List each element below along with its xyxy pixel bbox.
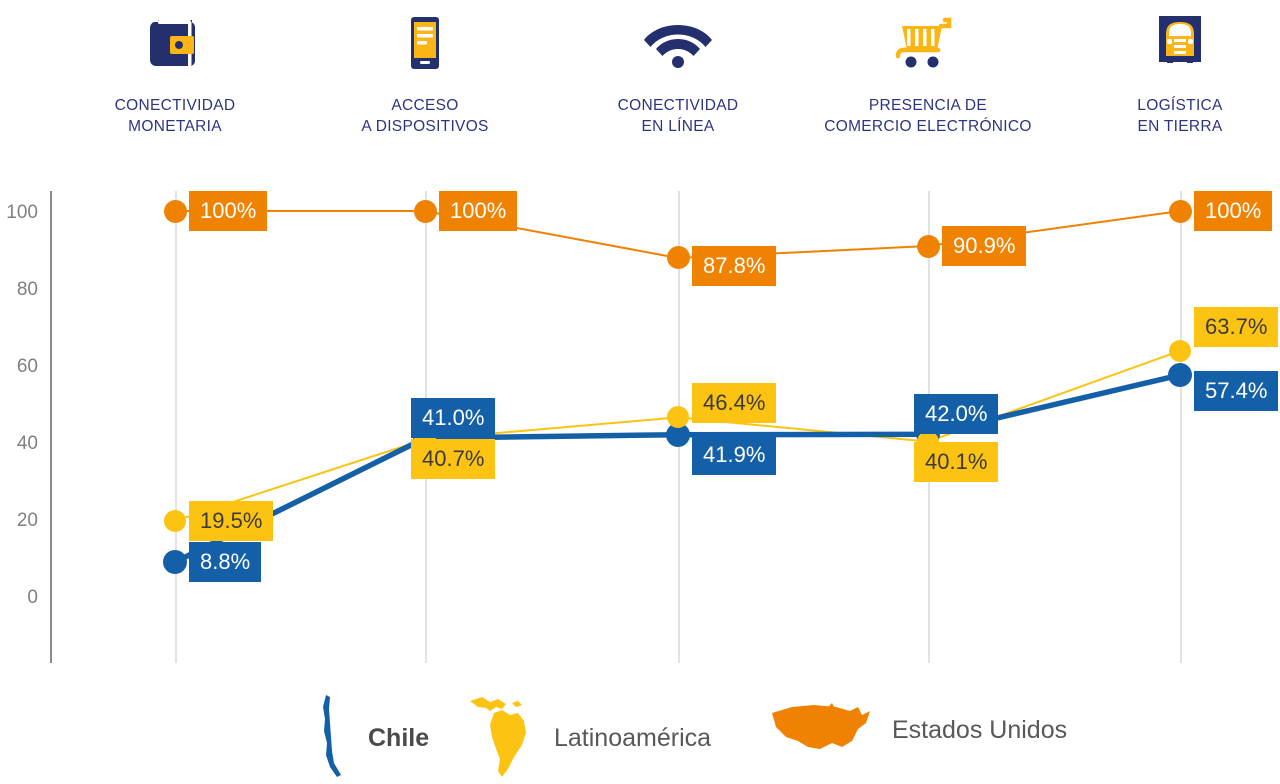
legend-label: Chile — [368, 724, 429, 753]
data-point-marker — [917, 235, 940, 258]
data-point-marker — [164, 510, 186, 532]
series-lines — [0, 160, 1280, 680]
data-value-label: 19.5% — [189, 501, 273, 541]
data-value-label: 40.1% — [914, 442, 998, 482]
data-point-marker — [164, 200, 187, 223]
category-label: ACCESO A DISPOSITIVOS — [310, 96, 540, 138]
legend-item-chile[interactable]: Chile — [318, 693, 429, 784]
latinamerica-map-icon — [468, 693, 538, 784]
category-label: CONECTIVIDAD MONETARIA — [60, 96, 290, 138]
wallet-icon — [60, 8, 290, 78]
legend-label: Estados Unidos — [892, 716, 1067, 745]
data-value-label: 41.9% — [692, 435, 776, 475]
data-value-label: 42.0% — [914, 394, 998, 434]
data-value-label: 41.0% — [411, 398, 495, 438]
data-value-label: 100% — [189, 191, 267, 231]
legend-item-latinoamerica[interactable]: Latinoamérica — [468, 693, 711, 784]
data-point-marker — [163, 550, 187, 574]
data-point-marker — [667, 246, 690, 269]
truck-icon — [1065, 8, 1280, 78]
category-conectividad-monetaria: CONECTIVIDAD MONETARIA — [60, 8, 290, 138]
data-value-label: 100% — [1194, 191, 1272, 231]
data-value-label: 90.9% — [942, 226, 1026, 266]
data-value-label: 40.7% — [411, 439, 495, 479]
category-label: PRESENCIA DE COMERCIO ELECTRÓNICO — [813, 96, 1043, 138]
data-value-label: 46.4% — [692, 383, 776, 423]
category-conectividad-en-linea: CONECTIVIDAD EN LÍNEA — [563, 8, 793, 138]
tablet-icon — [310, 8, 540, 78]
category-logistica-en-tierra: LOGÍSTICA EN TIERRA — [1065, 8, 1280, 138]
chart-legend: Chile Latinoamérica Estados Unidos — [0, 685, 1280, 780]
data-value-label: 8.8% — [189, 542, 261, 582]
data-value-label: 87.8% — [692, 246, 776, 286]
data-point-marker — [414, 200, 437, 223]
legend-item-estados-unidos[interactable]: Estados Unidos — [766, 697, 1067, 764]
data-point-marker — [1169, 200, 1192, 223]
chart-plot-area: 100 80 60 40 20 0 8.8%41.0%41.9%42.0%57.… — [0, 160, 1280, 680]
shopping-cart-icon — [813, 8, 1043, 78]
infographic-chart-root: CONECTIVIDAD MONETARIA ACCESO A DISPOSIT… — [0, 0, 1280, 780]
wifi-icon — [563, 8, 793, 78]
category-presencia-de-comercio-electronico: PRESENCIA DE COMERCIO ELECTRÓNICO — [813, 8, 1043, 138]
category-label: CONECTIVIDAD EN LÍNEA — [563, 96, 793, 138]
chile-map-icon — [318, 693, 352, 784]
category-label: LOGÍSTICA EN TIERRA — [1065, 96, 1280, 138]
data-value-label: 63.7% — [1194, 307, 1278, 347]
usa-map-icon — [766, 697, 876, 764]
data-point-marker — [1169, 340, 1191, 362]
category-acceso-a-dispositivos: ACCESO A DISPOSITIVOS — [310, 8, 540, 138]
data-value-label: 57.4% — [1194, 371, 1278, 411]
data-point-marker — [1168, 363, 1192, 387]
legend-label: Latinoamérica — [554, 724, 711, 753]
data-value-label: 100% — [439, 191, 517, 231]
category-header-row: CONECTIVIDAD MONETARIA ACCESO A DISPOSIT… — [0, 0, 1280, 160]
